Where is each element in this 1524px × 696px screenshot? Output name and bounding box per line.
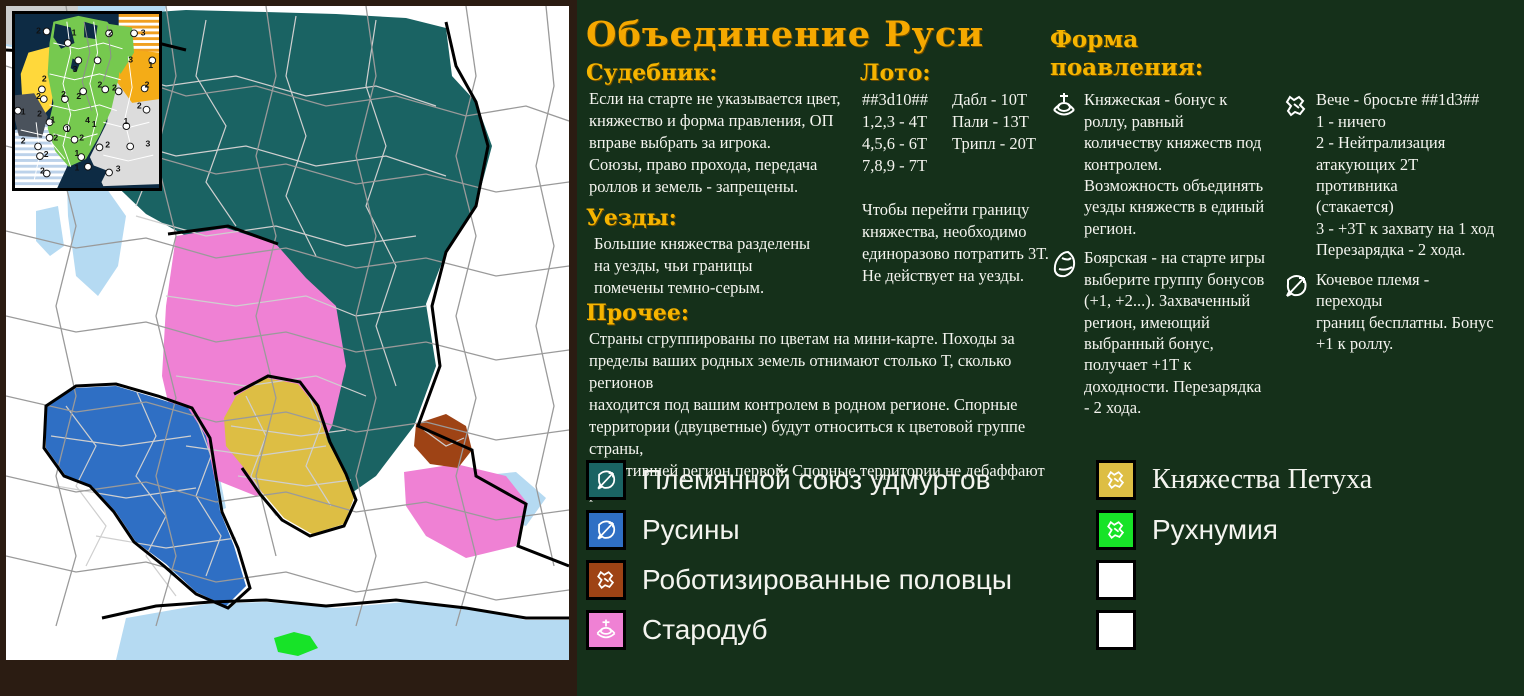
text-line: вправе выбрать за игрока.: [589, 132, 866, 154]
text-line: княжество и форма правления, ОП: [589, 110, 866, 132]
text-line: регион.: [1084, 218, 1264, 239]
text-line: - 2 хода.: [1084, 397, 1265, 418]
legend-item-udmurt[interactable]: Племянной союз удмуртов: [586, 455, 1096, 505]
text-line: находится под вашим контролем в родном р…: [589, 394, 1064, 416]
forma-column-right: Вече - бросьте ##1d3## 1 - ничего 2 - Не…: [1282, 89, 1498, 427]
minimap-number: 4: [85, 115, 90, 125]
minimap-number: 1: [72, 27, 77, 37]
forma-item-text: Кочевое племя - переходы границ бесплатн…: [1316, 269, 1498, 355]
legend-label: Рухнумия: [1152, 516, 1278, 544]
sudebnik-heading: Судебник:: [586, 60, 866, 86]
legend-swatch: [1096, 510, 1136, 550]
minimap-number: 3: [116, 164, 121, 174]
minimap-number: 2: [112, 82, 117, 92]
text-line: 2 - Нейтрализация: [1316, 132, 1498, 153]
text-line: (+1, +2...). Захваченный: [1084, 290, 1265, 311]
legend-label: Стародуб: [642, 616, 768, 644]
orb-cross-icon: [593, 617, 619, 643]
legend-column-left: Племянной союз удмуртов: [586, 455, 1096, 655]
minimap-number: 2: [37, 108, 42, 118]
game-map-infographic: 23123312221222222141212211232123 Объедин…: [0, 0, 1524, 696]
legend-label: Княжества Петуха: [1152, 466, 1372, 494]
minimap-number: 2: [137, 101, 142, 111]
uezdy-body: Большие княжества разделены на уезды, чь…: [594, 233, 866, 299]
minimap-number: 2: [36, 91, 41, 101]
legend-item-rusiny[interactable]: Русины: [586, 505, 1096, 555]
text-line: +1 к роллу.: [1316, 333, 1498, 354]
text-line: княжества, необходимо: [862, 221, 1050, 243]
text-line: уезды княжеств в единый: [1084, 196, 1264, 217]
minimap-number: 2: [79, 133, 84, 143]
loto-cell: 4,5,6 - 6Т: [862, 133, 946, 155]
legend-swatch: [1096, 560, 1136, 600]
section-uezdy: Уезды: Большие княжества разделены на уе…: [586, 205, 866, 299]
boyar-hat-icon: [1050, 249, 1078, 279]
loto-cell: [952, 155, 1050, 177]
text-line: получает +1Т к: [1084, 354, 1265, 375]
text-line: на уезды, чьи границы: [594, 255, 866, 277]
minimap-number: 2: [36, 25, 41, 35]
text-line: Княжеская - бонус к: [1084, 89, 1264, 110]
text-line: Кочевое племя - переходы: [1316, 269, 1498, 312]
section-loto: Лото: ##3d10## Дабл - 10Т 1,2,3 - 4Т Пал…: [860, 60, 1050, 287]
text-line: Если на старте не указывается цвет,: [589, 88, 866, 110]
legend-label: Роботизированные половцы: [642, 566, 1012, 594]
bow-arrow-icon: [1282, 271, 1310, 301]
minimap-number: 2: [53, 133, 58, 143]
forma-item-text: Боярская - на старте игры выберите групп…: [1084, 247, 1265, 419]
legend-item-empty-2[interactable]: [1096, 605, 1372, 655]
text-line: Большие княжества разделены: [594, 233, 866, 255]
legend-label: Русины: [642, 516, 740, 544]
loto-cell: Дабл - 10Т: [952, 89, 1050, 111]
text-line: регион, имеющий: [1084, 312, 1265, 333]
legend-swatch: [586, 560, 626, 600]
text-line: единоразово потратить 3Т.: [862, 243, 1050, 265]
minimap-number: 1: [148, 60, 153, 70]
section-sudebnik: Судебник: Если на старте не указывается …: [586, 60, 866, 198]
text-line: 1 - ничего: [1316, 111, 1498, 132]
minimap-number: 1: [65, 124, 70, 134]
veche-bell-icon: [1282, 91, 1310, 121]
loto-cell: ##3d10##: [862, 89, 946, 111]
minimap-number: 1: [75, 163, 80, 173]
minimap-number: 2: [61, 89, 66, 99]
text-line: помечены темно-серым.: [594, 277, 866, 299]
minimap-number: 1: [92, 119, 97, 129]
text-line: доходности. Перезарядка: [1084, 376, 1265, 397]
text-line: Боярская - на старте игры: [1084, 247, 1265, 268]
minimap-number: 2: [105, 139, 110, 149]
text-line: роллов и земель - запрещены.: [589, 176, 866, 198]
text-line: выберите группу бонусов: [1084, 269, 1265, 290]
legend-item-petuha[interactable]: Княжества Петуха: [1096, 455, 1372, 505]
minimap-number: 1: [123, 116, 128, 126]
minimap-number: 1: [51, 114, 56, 124]
legend-item-polovtsy[interactable]: Роботизированные половцы: [586, 555, 1096, 605]
minimap-number: 2: [21, 136, 26, 146]
text-line: Союзы, право прохода, передача: [589, 154, 866, 176]
orb-cross-icon: [1050, 91, 1078, 121]
veche-bell-icon: [593, 567, 619, 593]
minimap-number: 3: [73, 64, 78, 74]
minimap-number: 3: [128, 54, 133, 64]
text-line: территории (двуцветные) будут относиться…: [589, 416, 1064, 460]
uezdy-heading: Уезды:: [586, 205, 866, 231]
forma-item-knyazheskaya: Княжеская - бонус к роллу, равный количе…: [1050, 89, 1266, 239]
legend: Племянной союз удмуртов: [586, 455, 1521, 655]
info-panel: Объединение Руси Судебник: Если на старт…: [577, 0, 1524, 696]
text-line: границ бесплатны. Бонус: [1316, 312, 1498, 333]
text-line: Не действует на уезды.: [862, 265, 1050, 287]
text-line: количеству княжеств под: [1084, 132, 1264, 153]
minimap-number: 3: [141, 27, 146, 37]
minimap-number: 2: [44, 149, 49, 159]
forma-column-left: Княжеская - бонус к роллу, равный количе…: [1050, 89, 1266, 427]
legend-column-right: Княжества Петуха Рухнумия: [1096, 455, 1372, 655]
text-line: 3 - +3Т к захвату на 1 ход: [1316, 218, 1498, 239]
prochee-heading: Прочее:: [586, 300, 1064, 326]
text-line: контролем.: [1084, 154, 1264, 175]
forma-heading-line1: Форма: [1050, 26, 1520, 54]
legend-item-empty-1[interactable]: [1096, 555, 1372, 605]
loto-cell: Трипл - 20Т: [952, 133, 1050, 155]
forma-item-kochevoe-plemya: Кочевое племя - переходы границ бесплатн…: [1282, 269, 1498, 355]
text-line: (стакается): [1316, 196, 1498, 217]
section-forma-pravleniya: Форма поавления:: [1050, 26, 1520, 427]
page-title: Объединение Руси: [586, 14, 984, 55]
veche-bell-icon: [1103, 517, 1129, 543]
loto-cell: 7,8,9 - 7Т: [862, 155, 946, 177]
minimap-number: 2: [76, 91, 81, 101]
legend-label: Племянной союз удмуртов: [642, 466, 990, 494]
text-line: Перезарядка - 2 хода.: [1316, 239, 1498, 260]
minimap-number: 2: [40, 165, 45, 175]
text-line: выбранный бонус,: [1084, 333, 1265, 354]
map-panel: 23123312221222222141212211232123: [0, 0, 577, 696]
forma-heading-line2: поавления:: [1050, 54, 1520, 82]
text-line: Чтобы перейти границу: [862, 199, 1050, 221]
forma-item-boyarskaya: Боярская - на старте игры выберите групп…: [1050, 247, 1266, 419]
legend-item-starodub[interactable]: Стародуб: [586, 605, 1096, 655]
loto-note: Чтобы перейти границу княжества, необход…: [862, 199, 1050, 287]
forma-item-veche: Вече - бросьте ##1d3## 1 - ничего 2 - Не…: [1282, 89, 1498, 261]
minimap-number: 3: [146, 138, 151, 148]
minimap[interactable]: 23123312221222222141212211232123: [12, 11, 162, 191]
veche-bell-icon: [1103, 467, 1129, 493]
legend-swatch: [1096, 460, 1136, 500]
legend-swatch: [586, 460, 626, 500]
loto-heading: Лото:: [860, 60, 1050, 86]
loto-cell: Пали - 13Т: [952, 111, 1050, 133]
text-line: Вече - бросьте ##1d3##: [1316, 89, 1498, 110]
map-canvas[interactable]: 23123312221222222141212211232123: [6, 6, 569, 660]
sudebnik-body: Если на старте не указывается цвет, княж…: [589, 88, 866, 198]
minimap-number: 2: [98, 79, 103, 89]
minimap-number: 2: [42, 74, 47, 84]
bow-arrow-icon: [593, 467, 619, 493]
legend-swatch: [586, 510, 626, 550]
loto-table: ##3d10## Дабл - 10Т 1,2,3 - 4Т Пали - 13…: [862, 89, 1050, 177]
minimap-number: 1: [75, 148, 80, 158]
legend-swatch: [586, 610, 626, 650]
text-line: роллу, равный: [1084, 111, 1264, 132]
text-line: Возможность объединять: [1084, 175, 1264, 196]
text-line: пределы ваших родных земель отнимают сто…: [589, 350, 1064, 394]
text-line: атакующих 2Т противника: [1316, 154, 1498, 197]
loto-cell: 1,2,3 - 4Т: [862, 111, 946, 133]
minimap-number: 2: [108, 27, 113, 37]
minimap-number: 1: [21, 107, 26, 117]
text-line: Страны сгруппированы по цветам на мини-к…: [589, 328, 1064, 350]
legend-swatch: [1096, 610, 1136, 650]
legend-item-ruhnumiya[interactable]: Рухнумия: [1096, 505, 1372, 555]
bow-arrow-icon: [593, 517, 619, 543]
forma-item-text: Княжеская - бонус к роллу, равный количе…: [1084, 89, 1264, 239]
minimap-number: 2: [145, 79, 150, 89]
forma-item-text: Вече - бросьте ##1d3## 1 - ничего 2 - Не…: [1316, 89, 1498, 261]
